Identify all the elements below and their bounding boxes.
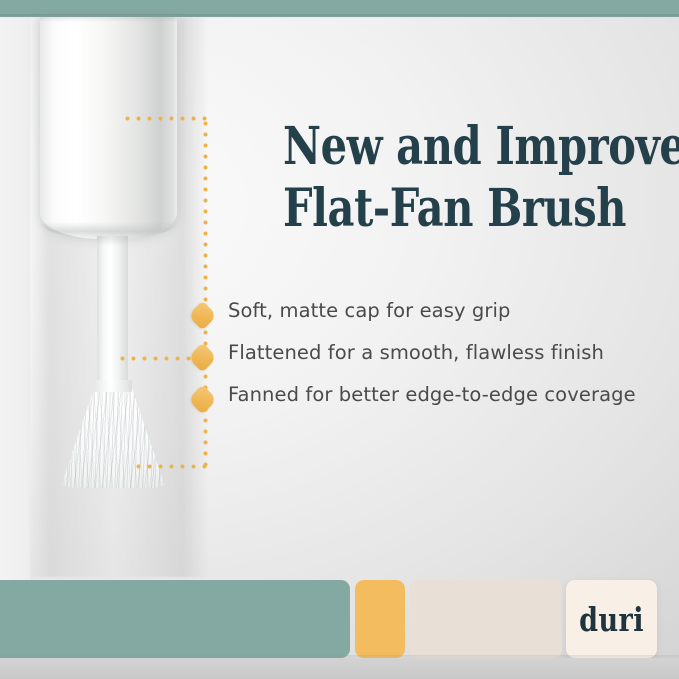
- bristle-hairs-layer-3: [58, 384, 168, 488]
- cap-top-edge: [40, 17, 177, 22]
- bullet-text-3: Fanned for better edge-to-edge coverage: [228, 383, 636, 406]
- nail-polish-cap: [40, 17, 177, 239]
- bullet-text-1: Soft, matte cap for easy grip: [228, 299, 511, 322]
- leader-line-vertical: [203, 118, 208, 468]
- brush-stem-shadow: [97, 236, 128, 246]
- list-item: Soft, matte cap for easy grip: [228, 297, 658, 339]
- bristle-ferrule: [94, 380, 132, 392]
- feature-bullet-list: Soft, matte cap for easy grip Flattened …: [228, 297, 658, 423]
- product-feature-poster: New and Improved Flat-Fan Brush Soft, ma…: [0, 0, 679, 679]
- background-left-panel: [0, 17, 30, 580]
- leader-line-bottom-horizontal: [133, 464, 208, 469]
- headline-line-1: New and Improved: [283, 116, 587, 178]
- bullet-text-2: Flattened for a smooth, flawless finish: [228, 341, 604, 364]
- list-item: Flattened for a smooth, flawless finish: [228, 339, 658, 381]
- leader-line-top-horizontal: [122, 116, 210, 121]
- brand-logo: duri: [574, 580, 649, 658]
- footer-amber-segment: [355, 580, 405, 658]
- footer-teal-segment: [0, 580, 350, 658]
- flat-fan-bristles: [58, 384, 168, 488]
- page-title: New and Improved Flat-Fan Brush: [283, 116, 587, 240]
- headline-line-2: Flat-Fan Brush: [283, 178, 587, 240]
- footer-beige-segment: [409, 580, 562, 658]
- footer-floor: [0, 658, 679, 679]
- brush-stem: [97, 236, 128, 388]
- list-item: Fanned for better edge-to-edge coverage: [228, 381, 658, 423]
